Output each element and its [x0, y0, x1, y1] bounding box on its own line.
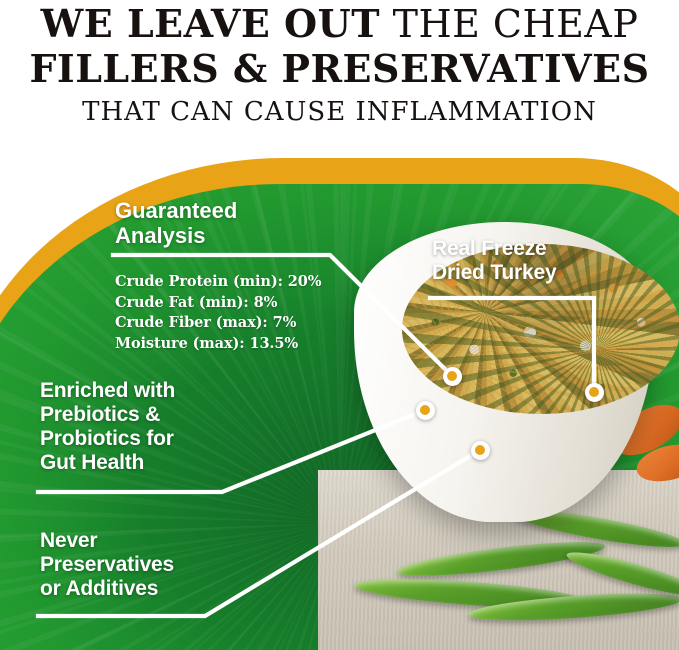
- headline-line-2: FILLERS & PRESERVATIVES: [0, 46, 679, 92]
- callout-guaranteed-analysis: Guaranteed Analysis Crude Protein (min):…: [115, 198, 321, 354]
- infographic-root: WE LEAVE OUT THE CHEAP FILLERS & PRESERV…: [0, 0, 679, 650]
- dot-center: [447, 371, 457, 381]
- ga-title-line-2: Analysis: [115, 223, 321, 248]
- ga-item: Crude Fiber (max): 7%: [115, 313, 321, 334]
- headline-line-1: WE LEAVE OUT THE CHEAP: [0, 2, 679, 46]
- callout-prebiotics-probiotics: Enriched with Prebiotics & Probiotics fo…: [40, 379, 175, 475]
- callout-dot-turkey[interactable]: [585, 383, 604, 402]
- callout-dot-guaranteed-analysis[interactable]: [443, 367, 462, 386]
- callout-real-freeze-dried-turkey: Real Freeze Dried Turkey: [432, 237, 556, 285]
- headline-block: WE LEAVE OUT THE CHEAP FILLERS & PRESERV…: [0, 0, 679, 150]
- headline-line-1-bold: WE LEAVE OUT: [41, 1, 380, 46]
- turkey-title-line-2: Dried Turkey: [432, 261, 556, 285]
- prebiotics-title-line-2: Prebiotics &: [40, 403, 175, 427]
- dot-center: [420, 405, 430, 415]
- turkey-title-line-1: Real Freeze: [432, 237, 556, 261]
- ga-title-line-1: Guaranteed: [115, 198, 321, 223]
- callout-never-preservatives: Never Preservatives or Additives: [40, 529, 174, 601]
- dot-center: [475, 445, 485, 455]
- ga-item: Crude Protein (min): 20%: [115, 272, 321, 293]
- prebiotics-title-line-1: Enriched with: [40, 379, 175, 403]
- never-title-line-2: Preservatives: [40, 553, 174, 577]
- prebiotics-title-line-3: Probiotics for: [40, 427, 175, 451]
- never-title-line-3: or Additives: [40, 577, 174, 601]
- ga-item: Crude Fat (min): 8%: [115, 293, 321, 314]
- ga-item-list: Crude Protein (min): 20% Crude Fat (min)…: [115, 272, 321, 354]
- headline-line-3: THAT CAN CAUSE INFLAMMATION: [0, 92, 679, 132]
- never-title-line-1: Never: [40, 529, 174, 553]
- callout-dot-never-preservatives[interactable]: [471, 441, 490, 460]
- dot-center: [589, 387, 599, 397]
- prebiotics-title-line-4: Gut Health: [40, 451, 175, 475]
- callout-dot-prebiotics[interactable]: [416, 401, 435, 420]
- headline-line-1-rest: THE CHEAP: [380, 2, 638, 46]
- ga-item: Moisture (max): 13.5%: [115, 334, 321, 355]
